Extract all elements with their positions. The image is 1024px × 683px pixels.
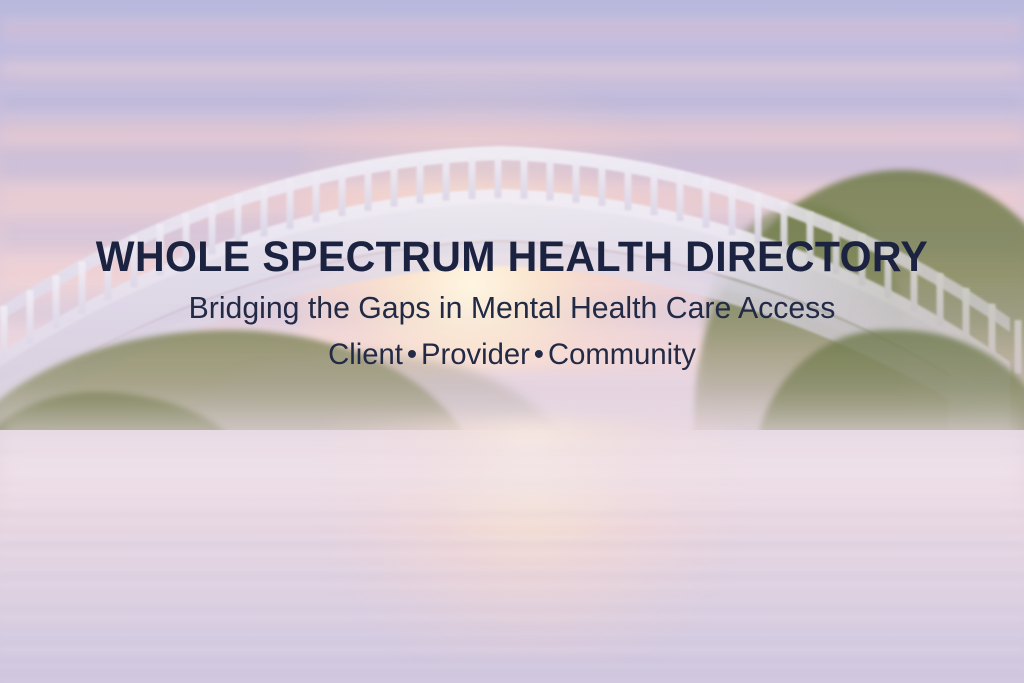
hero-banner: WHOLE SPECTRUM HEALTH DIRECTORY Bridging… bbox=[0, 0, 1024, 683]
banner-subtitle: Bridging the Gaps in Mental Health Care … bbox=[13, 292, 1011, 323]
banner-tagline: Client•Provider•Community bbox=[13, 340, 1011, 370]
tagline-audience-client: Client bbox=[328, 338, 403, 371]
page-title: WHOLE SPECTRUM HEALTH DIRECTORY bbox=[23, 236, 1001, 279]
tagline-separator-2: • bbox=[530, 338, 548, 371]
tagline-audience-community: Community bbox=[548, 338, 696, 371]
banner-text-block: WHOLE SPECTRUM HEALTH DIRECTORY Bridging… bbox=[0, 236, 1024, 370]
tagline-audience-provider: Provider bbox=[421, 338, 530, 371]
tagline-separator-1: • bbox=[403, 338, 421, 371]
mist-band bbox=[0, 395, 1024, 525]
